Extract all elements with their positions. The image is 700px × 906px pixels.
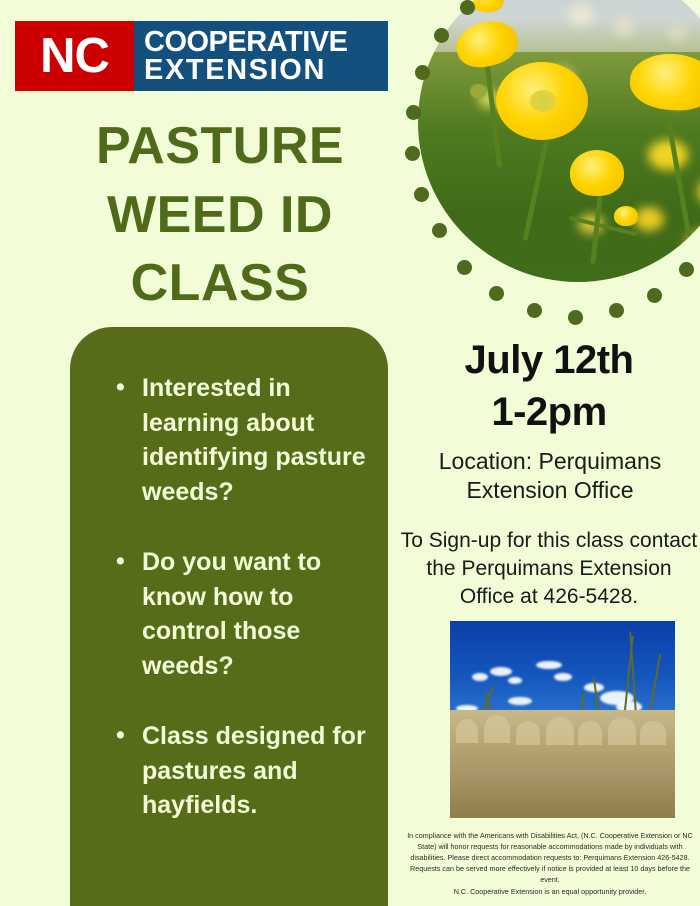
- buttercup-flowers-photo: [418, 0, 700, 282]
- flower-center: [530, 90, 556, 112]
- logo-wordmark-block: COOPERATIVE EXTENSION: [134, 21, 388, 91]
- photo-blur-bokeh: [648, 140, 688, 170]
- bullet-panel: Interested in learning about identifying…: [70, 327, 388, 906]
- cloud-shape: [472, 673, 488, 681]
- event-location: Location: Perquimans Extension Office: [404, 447, 696, 506]
- photo-blur-bokeh: [568, 4, 594, 26]
- grass-tuft: [546, 717, 574, 745]
- arc-dot-icon: [489, 286, 504, 301]
- cloud-shape: [508, 697, 532, 705]
- title-line-1: PASTURE: [40, 112, 400, 181]
- ada-fine-print: In compliance with the Americans with Di…: [404, 831, 696, 898]
- logo-nc-block: NC: [15, 21, 134, 91]
- flower-head: [570, 150, 624, 196]
- flyer-page: NC COOPERATIVE EXTENSION PASTURE WEED ID…: [0, 0, 700, 906]
- arc-dot-icon: [406, 105, 421, 120]
- event-date: July 12th: [400, 334, 698, 386]
- grass-tuft: [578, 721, 602, 745]
- cloud-shape: [536, 661, 562, 669]
- flower-bud: [614, 206, 638, 226]
- fine-print-paragraph-2: N.C. Cooperative Extension is an equal o…: [404, 887, 696, 898]
- logo-cooperative-text: COOPERATIVE: [144, 28, 388, 56]
- grass-tuft: [640, 721, 666, 745]
- arc-dot-icon: [460, 0, 475, 15]
- event-datetime: July 12th 1-2pm: [400, 334, 698, 438]
- event-signup-info: To Sign-up for this class contact the Pe…: [400, 527, 698, 611]
- photo-blur-bokeh: [634, 207, 664, 231]
- benefits-list: Interested in learning about identifying…: [70, 327, 388, 823]
- grass-tuft: [608, 717, 636, 745]
- flower-bud: [470, 84, 486, 98]
- logo-nc-text: NC: [40, 32, 109, 81]
- arc-dot-icon: [527, 303, 542, 318]
- nc-cooperative-extension-logo: NC COOPERATIVE EXTENSION: [15, 21, 388, 91]
- grass-tuft: [484, 715, 510, 743]
- event-time: 1-2pm: [400, 386, 698, 438]
- list-item: Class designed for pastures and hayfield…: [116, 719, 370, 823]
- grass-tuft: [456, 719, 478, 743]
- arc-dot-icon: [405, 146, 420, 161]
- arc-dot-icon: [568, 310, 583, 325]
- logo-extension-text: EXTENSION: [144, 56, 388, 84]
- photo-blur-bokeh: [668, 24, 686, 40]
- hayfield-grass-photo: [450, 621, 675, 818]
- list-item: Interested in learning about identifying…: [116, 371, 370, 509]
- cloud-shape: [490, 667, 512, 676]
- grass-tuft: [516, 721, 540, 745]
- arc-dot-icon: [609, 303, 624, 318]
- arc-dot-icon: [457, 260, 472, 275]
- list-item: Do you want to know how to control those…: [116, 545, 370, 683]
- title-line-3: CLASS: [40, 249, 400, 318]
- page-title: PASTURE WEED ID CLASS: [40, 112, 400, 318]
- cloud-shape: [508, 677, 522, 684]
- fine-print-paragraph-1: In compliance with the Americans with Di…: [407, 831, 693, 884]
- title-line-2: WEED ID: [40, 181, 400, 250]
- arc-dot-icon: [647, 288, 662, 303]
- photo-blur-bokeh: [614, 18, 634, 36]
- arc-dot-icon: [414, 187, 429, 202]
- arc-dot-icon: [679, 262, 694, 277]
- arc-dot-icon: [434, 28, 449, 43]
- cloud-shape: [554, 673, 572, 681]
- arc-dot-icon: [415, 65, 430, 80]
- arc-dot-icon: [432, 223, 447, 238]
